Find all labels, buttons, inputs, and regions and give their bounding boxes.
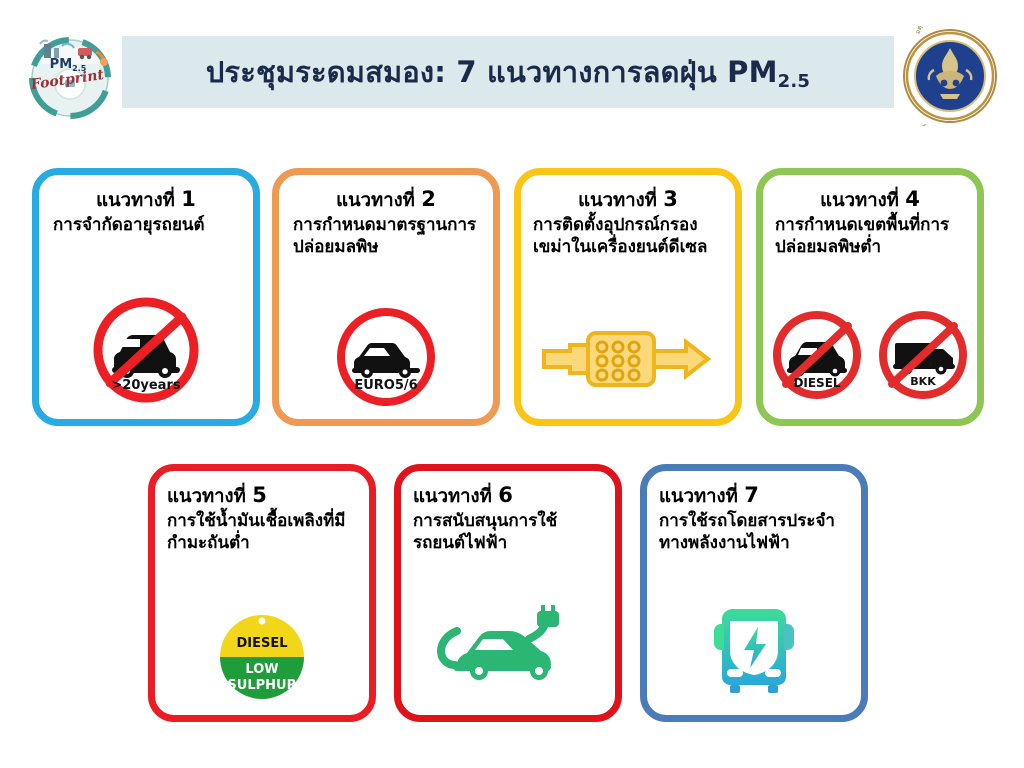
card-4-heading-prefix: แนวทางที่ <box>820 190 899 211</box>
card-2-icon-area: EURO5/6 <box>279 305 493 409</box>
card-3-body: การติดตั้งอุปกรณ์กรองเขม่าในเครื่องยนต์ด… <box>533 215 735 259</box>
approach-card-6[interactable]: แนวทางที่ 6 การสนับสนุนการใช้รถยนต์ไฟฟ้า <box>394 464 622 722</box>
card-2-icon-label: EURO5/6 <box>354 378 417 393</box>
approach-card-4[interactable]: แนวทางที่ 4 การกำหนดเขตพื้นที่การปล่อยมล… <box>756 168 984 426</box>
page-title-subscript: 2.5 <box>778 71 811 92</box>
approach-card-2[interactable]: แนวทางที่ 2 การกำหนดมาตรฐานการปล่อยมลพิษ… <box>272 168 500 426</box>
euro-emission-standard-icon: EURO5/6 <box>330 305 442 409</box>
mahidol-seal-graphic: อตฺตานํ อุปมํ กเร มหาวิทยาลัยมหิดล <box>900 26 1000 126</box>
card-6-heading: แนวทางที่ 6 <box>413 483 615 507</box>
approach-card-3[interactable]: แนวทางที่ 3 การติดตั้งอุปกรณ์กรองเขม่าใน… <box>514 168 742 426</box>
card-2-number: 2 <box>421 187 436 211</box>
pm25-footprint-logo-graphic: PM2.5 Footprint <box>18 22 122 122</box>
card-1-number: 1 <box>181 187 196 211</box>
card-6-number: 6 <box>498 483 513 507</box>
slide-header: PM2.5 Footprint ประชุมระดมสมอง: 7 แนวทาง… <box>0 0 1024 140</box>
card-4-icon-label-bkk: BKK <box>910 375 936 388</box>
card-5-heading-prefix: แนวทางที่ <box>167 486 246 507</box>
card-4-number: 4 <box>905 187 920 211</box>
approach-card-5[interactable]: แนวทางที่ 5 การใช้น้ำมันเชื้อเพลิงที่มีก… <box>148 464 376 722</box>
card-5-icon-area: DIESEL LOW SULPHUR <box>155 607 369 703</box>
card-5-heading: แนวทางที่ 5 <box>167 483 369 507</box>
card-1-icon-label: >20years <box>111 378 180 393</box>
slide-title-bar: ประชุมระดมสมอง: 7 แนวทางการลดฝุ่น PM2.5 <box>122 36 894 108</box>
card-6-heading-prefix: แนวทางที่ <box>413 486 492 507</box>
card-3-heading-prefix: แนวทางที่ <box>578 190 657 211</box>
card-7-number: 7 <box>744 483 759 507</box>
card-5-icon-label-diesel: DIESEL <box>236 636 287 651</box>
seal-bottom-text: มหาวิทยาลัยมหิดล <box>920 122 967 126</box>
approach-card-1[interactable]: แนวทางที่ 1 การจำกัดอายุรถยนต์ >20years <box>32 168 260 426</box>
card-4-icon-label-diesel: DIESEL <box>793 376 840 390</box>
card-1-icon-area: >20years <box>39 291 253 409</box>
card-6-body: การสนับสนุนการใช้รถยนต์ไฟฟ้า <box>413 511 615 555</box>
card-1-heading-prefix: แนวทางที่ <box>96 190 175 211</box>
approach-card-7[interactable]: แนวทางที่ 7 การใช้รถโดยสารประจำทางพลังงา… <box>640 464 868 722</box>
card-3-number: 3 <box>663 187 678 211</box>
page-title: ประชุมระดมสมอง: 7 แนวทางการลดฝุ่น PM2.5 <box>206 49 810 95</box>
card-2-heading-prefix: แนวทางที่ <box>336 190 415 211</box>
card-7-heading: แนวทางที่ 7 <box>659 483 861 507</box>
page-title-main: ประชุมระดมสมอง: 7 แนวทางการลดฝุ่น PM <box>206 55 778 89</box>
card-5-number: 5 <box>252 483 267 507</box>
electric-bus-icon <box>702 605 806 701</box>
low-sulphur-diesel-tag-icon: DIESEL LOW SULPHUR <box>209 607 315 703</box>
card-1-body: การจำกัดอายุรถยนต์ <box>53 215 253 237</box>
card-5-body: การใช้น้ำมันเชื้อเพลิงที่มีกำมะถันต่ำ <box>167 511 369 555</box>
card-4-icon-area: DIESEL BKK <box>763 305 977 409</box>
diesel-particulate-filter-icon <box>540 323 716 395</box>
card-1-heading: แนวทางที่ 1 <box>39 187 253 211</box>
card-7-icon-area <box>647 605 861 701</box>
no-truck-bkk-icon: BKK <box>871 305 975 409</box>
card-5-icon-label-low: LOW <box>245 662 278 677</box>
card-4-body: การกำหนดเขตพื้นที่การปล่อยมลพิษต่ำ <box>775 215 977 259</box>
card-2-body: การกำหนดมาตรฐานการปล่อยมลพิษ <box>293 215 493 259</box>
no-diesel-car-icon: DIESEL <box>765 305 869 409</box>
pm25-footprint-logo: PM2.5 Footprint <box>18 22 122 122</box>
card-5-icon-label-sulphur: SULPHUR <box>227 678 296 693</box>
mahidol-university-seal: อตฺตานํ อุปมํ กเร มหาวิทยาลัยมหิดล <box>900 26 1000 126</box>
card-3-heading: แนวทางที่ 3 <box>521 187 735 211</box>
card-2-heading: แนวทางที่ 2 <box>279 187 493 211</box>
card-4-heading: แนวทางที่ 4 <box>763 187 977 211</box>
card-3-icon-area <box>521 323 735 395</box>
no-old-car-icon: >20years <box>86 291 206 409</box>
card-6-icon-area <box>401 605 615 689</box>
card-7-body: การใช้รถโดยสารประจำทางพลังงานไฟฟ้า <box>659 511 861 555</box>
card-7-heading-prefix: แนวทางที่ <box>659 486 738 507</box>
electric-car-plug-icon <box>433 605 583 689</box>
